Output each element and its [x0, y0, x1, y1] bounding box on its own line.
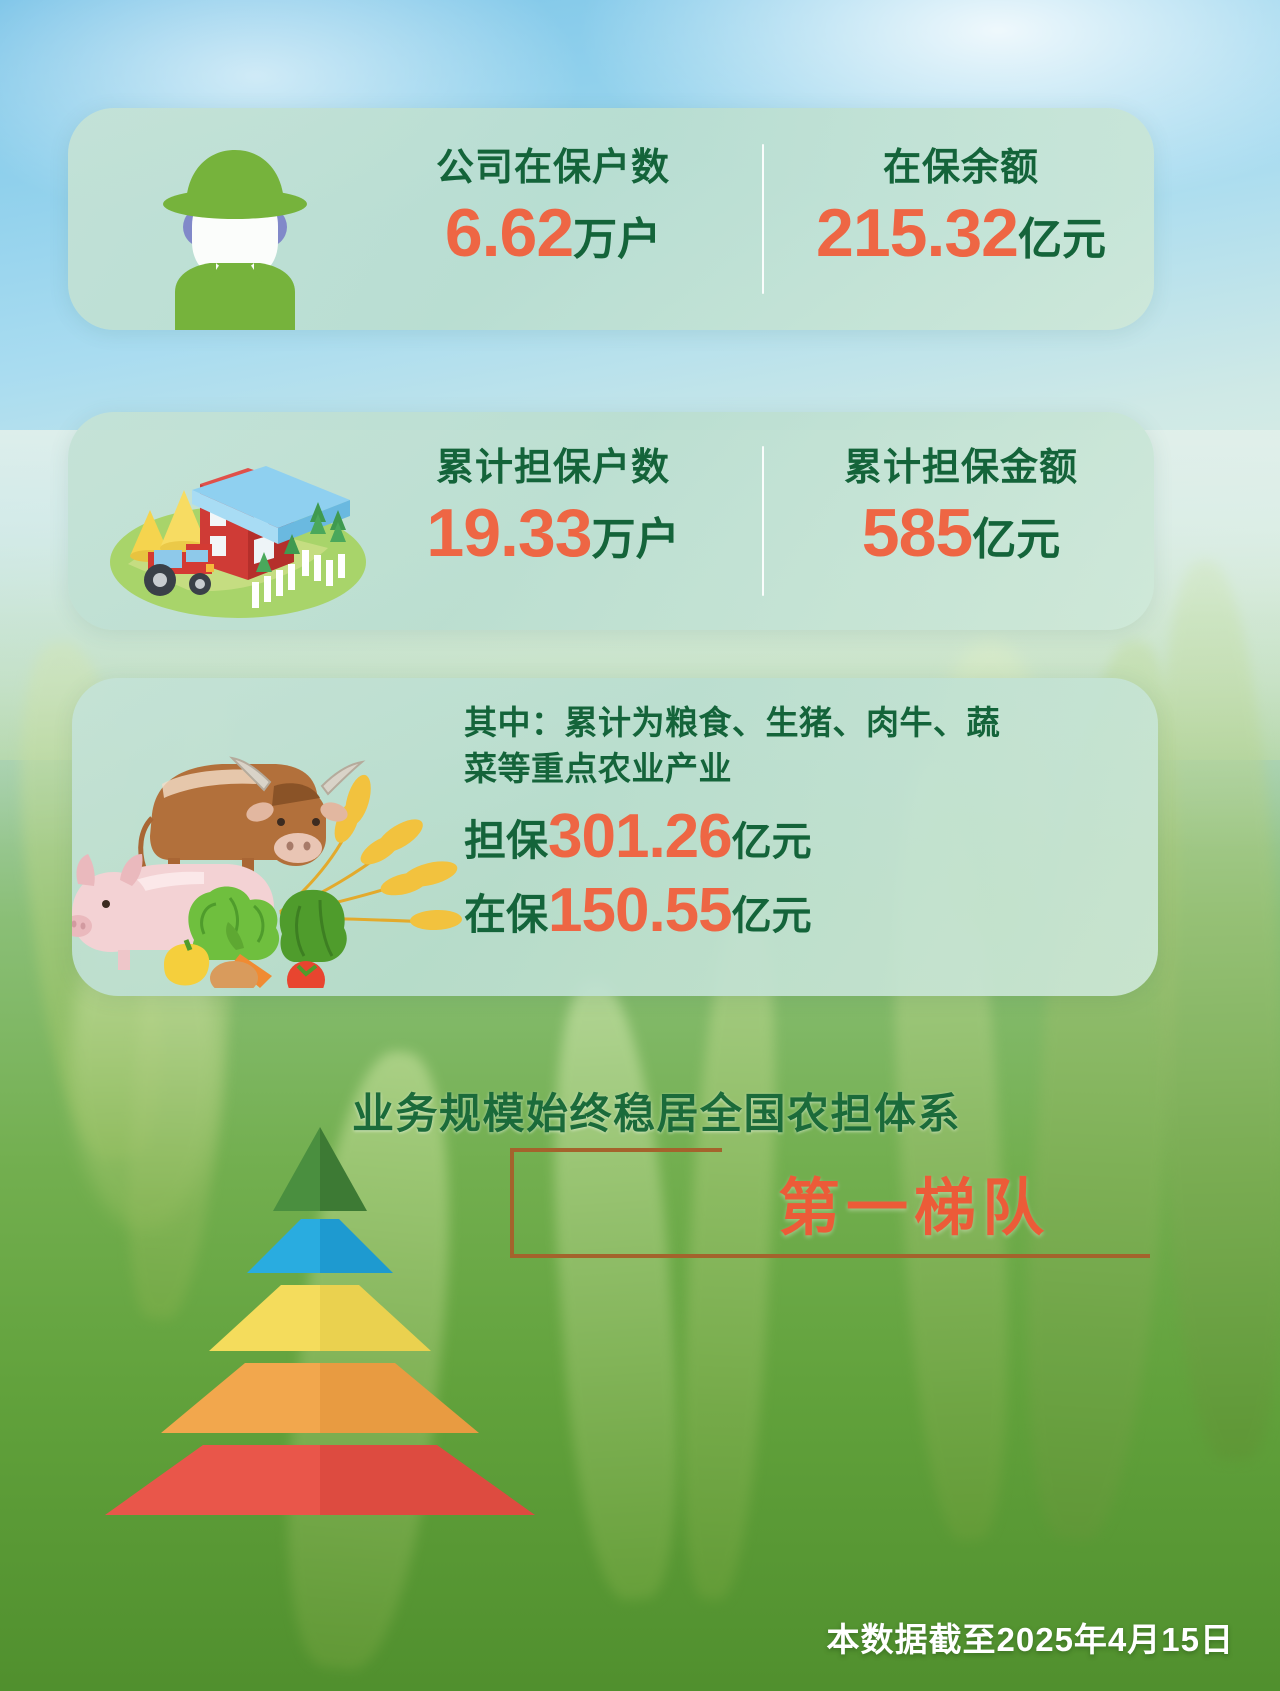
- amount-number: 301.26: [548, 802, 732, 871]
- ranking-banner: 业务规模始终稳居全国农担体系 第一梯队: [352, 1080, 1142, 1247]
- stat-label: 公司在保户数: [358, 146, 748, 190]
- industry-text-block: 其中：累计为粮食、生猪、肉牛、蔬 菜等重点农业产业 担保301.26亿元 在保1…: [464, 700, 1124, 958]
- card1-divider: [762, 144, 764, 294]
- stat-number: 585: [862, 495, 972, 571]
- industry-line-2: 菜等重点农业产业: [464, 746, 1124, 792]
- amount-unit: 亿元: [732, 894, 812, 938]
- stat-value: 585亿元: [768, 494, 1154, 589]
- stat-cumulative-amount: 累计担保金额 585亿元: [768, 446, 1154, 589]
- banner-line-2: 第一梯队: [352, 1157, 1142, 1247]
- stat-insured-households: 公司在保户数 6.62万户: [358, 146, 748, 289]
- card-cumulative: 累计担保户数 19.33万户 累计担保金额 585亿元: [68, 412, 1154, 630]
- stat-value: 215.32亿元: [768, 194, 1154, 289]
- stat-label: 在保余额: [768, 146, 1154, 190]
- stat-insured-balance: 在保余额 215.32亿元: [768, 146, 1154, 289]
- banner-line-1: 业务规模始终稳居全国农担体系: [352, 1080, 1142, 1141]
- industry-insured-amount: 在保150.55亿元: [464, 878, 1124, 958]
- data-as-of-note: 本数据截至2025年4月15日: [827, 1613, 1234, 1661]
- stat-unit: 万户: [573, 215, 661, 264]
- stat-number: 6.62: [445, 195, 573, 271]
- bracket-bottom-edge: [510, 1254, 1150, 1258]
- stat-label: 累计担保金额: [768, 446, 1154, 490]
- bracket-top-edge: [510, 1148, 722, 1152]
- card2-divider: [762, 446, 764, 596]
- stat-label: 累计担保户数: [358, 446, 748, 490]
- bracket-left-edge: [510, 1148, 514, 1258]
- stat-value: 19.33万户: [358, 494, 748, 589]
- amount-prefix: 在保: [464, 891, 548, 938]
- card-industry: 其中：累计为粮食、生猪、肉牛、蔬 菜等重点农业产业 担保301.26亿元 在保1…: [72, 678, 1158, 996]
- stat-unit: 亿元: [1018, 215, 1106, 264]
- stat-unit: 万户: [592, 515, 680, 564]
- amount-number: 150.55: [548, 876, 732, 945]
- stat-value: 6.62万户: [358, 194, 748, 289]
- stat-number: 19.33: [426, 495, 591, 571]
- amount-unit: 亿元: [732, 820, 812, 864]
- amount-prefix: 担保: [464, 817, 548, 864]
- stat-cumulative-households: 累计担保户数 19.33万户: [358, 446, 748, 589]
- industry-guarantee-amount: 担保301.26亿元: [464, 804, 1124, 884]
- industry-line-1: 其中：累计为粮食、生猪、肉牛、蔬: [464, 700, 1124, 746]
- card-insured: 公司在保户数 6.62万户 在保余额 215.32亿元: [68, 108, 1154, 330]
- farmer-icon: [120, 130, 350, 330]
- stat-number: 215.32: [816, 195, 1018, 271]
- livestock-crops-icon: [72, 688, 464, 988]
- stat-unit: 亿元: [972, 515, 1060, 564]
- farmhouse-icon: [88, 424, 378, 624]
